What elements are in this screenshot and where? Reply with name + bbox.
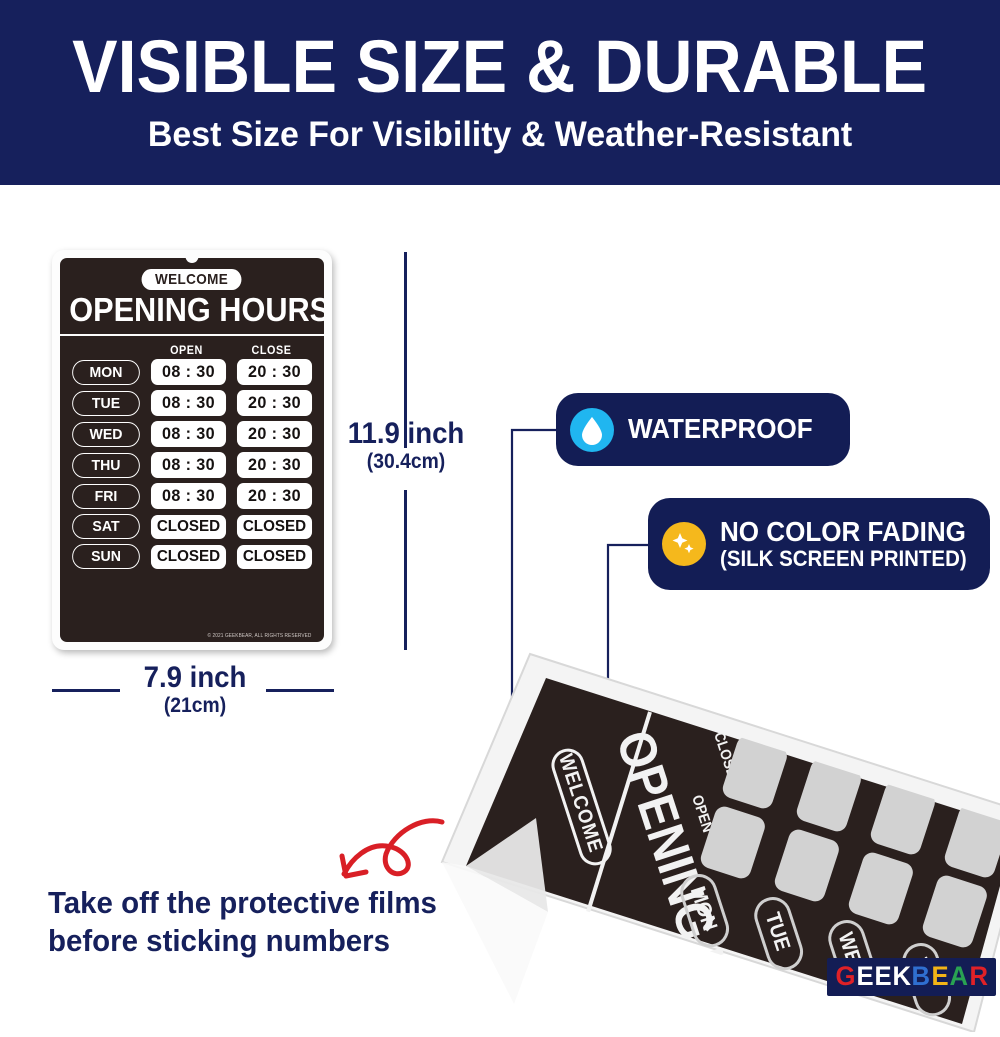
- brand-logo: GEEKBEAR: [827, 958, 996, 996]
- day-label: WED: [72, 422, 140, 447]
- connector-line-nofade: [608, 545, 648, 688]
- banner-subtitle: Best Size For Visibility & Weather-Resis…: [148, 116, 852, 155]
- open-value: 08 : 30: [151, 452, 226, 478]
- caption-line-2: before sticking numbers: [48, 922, 466, 960]
- open-value: 08 : 30: [151, 483, 226, 509]
- svg-text:TUE: TUE: [760, 910, 794, 954]
- close-value: 20 : 30: [237, 483, 312, 509]
- open-value: 08 : 30: [151, 390, 226, 416]
- height-cm-value: (30.4cm): [342, 450, 471, 473]
- sign-frame: WELCOME OPENING HOURS OPEN CLOSE MON 08 …: [52, 250, 332, 650]
- copyright-notice: © 2021 GEEKBEAR, ALL RIGHTS RESERVED: [208, 633, 312, 639]
- svg-text:MON: MON: [685, 884, 721, 934]
- close-value: CLOSED: [237, 545, 312, 569]
- caption-line-1: Take off the protective films: [48, 884, 466, 922]
- svg-text:OPENING HOURS: OPENING HOURS: [605, 724, 783, 1032]
- feature-badge-text: NO COLOR FADING (SILK SCREEN PRINTED): [720, 518, 967, 570]
- column-headers: OPEN CLOSE: [60, 336, 324, 359]
- brand-letter-1: E: [856, 963, 873, 990]
- tilted-column-header-close: CLOSE: [710, 730, 740, 779]
- sign-header: WELCOME OPENING HOURS: [60, 258, 324, 336]
- height-guide-line-bottom: [404, 490, 407, 650]
- tilted-sign-title: OPENING HOURS: [605, 724, 783, 1032]
- width-cm-value: (21cm): [117, 694, 273, 717]
- open-value: CLOSED: [151, 545, 226, 569]
- water-drop-icon: [570, 408, 614, 452]
- tilted-day-label: MON: [677, 871, 732, 950]
- close-value: 20 : 30: [237, 421, 312, 447]
- connector-dot-waterproof: [507, 803, 517, 813]
- table-row: FRI 08 : 30 20 : 30: [70, 483, 314, 509]
- brand-letter-2: E: [874, 963, 891, 990]
- feature-label-line2: (SILK SCREEN PRINTED): [720, 548, 967, 570]
- svg-text:CLOSE: CLOSE: [710, 730, 740, 779]
- tilted-sign-divider: [588, 712, 650, 912]
- brand-letter-5: E: [931, 963, 948, 990]
- tilted-day-pills: MON TUE WED THU: [677, 871, 954, 1019]
- day-label: SUN: [72, 544, 140, 569]
- brand-letter-3: K: [892, 963, 911, 990]
- feature-label-line1: NO COLOR FADING: [720, 518, 967, 547]
- table-row: SAT CLOSED CLOSED: [70, 514, 314, 539]
- open-value: CLOSED: [151, 515, 226, 539]
- feature-badge-no-color-fading[interactable]: NO COLOR FADING (SILK SCREEN PRINTED): [648, 498, 990, 590]
- close-value: 20 : 30: [237, 452, 312, 478]
- banner-title: VISIBLE SIZE & DURABLE: [73, 31, 928, 104]
- svg-text:WELCOME: WELCOME: [554, 751, 606, 855]
- close-value: 20 : 30: [237, 390, 312, 416]
- feature-badge-waterproof[interactable]: WATERPROOF: [556, 393, 850, 466]
- table-row: SUN CLOSED CLOSED: [70, 544, 314, 569]
- table-row: TUE 08 : 30 20 : 30: [70, 390, 314, 416]
- width-dimension-label: 7.9 inch (21cm): [110, 662, 280, 717]
- day-label: SAT: [72, 514, 140, 539]
- instruction-caption: Take off the protective films before sti…: [48, 884, 466, 960]
- peeling-film-corner: [466, 818, 548, 912]
- table-row: THU 08 : 30 20 : 30: [70, 452, 314, 478]
- height-inch-value: 11.9 inch: [342, 418, 471, 450]
- connector-line-waterproof: [512, 430, 556, 808]
- infographic-canvas: VISIBLE SIZE & DURABLE Best Size For Vis…: [0, 0, 1000, 1000]
- feature-badge-text: WATERPROOF: [628, 415, 813, 444]
- close-value: 20 : 30: [237, 359, 312, 385]
- welcome-badge: WELCOME: [142, 269, 242, 290]
- width-inch-value: 7.9 inch: [117, 662, 273, 694]
- table-row: MON 08 : 30 20 : 30: [70, 359, 314, 385]
- sign-face: WELCOME OPENING HOURS OPEN CLOSE MON 08 …: [60, 258, 324, 642]
- header-banner: VISIBLE SIZE & DURABLE Best Size For Vis…: [0, 0, 1000, 185]
- brand-letter-7: R: [969, 963, 988, 990]
- open-value: 08 : 30: [151, 421, 226, 447]
- tilted-day-label: TUE: [751, 894, 806, 973]
- product-sign-front: WELCOME OPENING HOURS OPEN CLOSE MON 08 …: [52, 250, 332, 650]
- day-label: FRI: [72, 484, 140, 509]
- close-value: CLOSED: [237, 515, 312, 539]
- connector-dot-nofade: [603, 683, 613, 693]
- brand-letter-4: B: [912, 963, 931, 990]
- svg-text:OPEN: OPEN: [688, 793, 716, 835]
- tilted-column-header-open: OPEN: [688, 793, 716, 835]
- height-dimension-label: 11.9 inch (30.4cm): [336, 418, 476, 473]
- hours-table: MON 08 : 30 20 : 30 TUE 08 : 30 20 : 30 …: [60, 359, 324, 569]
- column-header-close: CLOSE: [233, 343, 310, 357]
- day-label: THU: [72, 453, 140, 478]
- column-header-open: OPEN: [148, 343, 225, 357]
- tilted-welcome-badge: WELCOME: [549, 746, 614, 867]
- feature-label-line1: WATERPROOF: [628, 415, 813, 444]
- tilted-empty-slots-close: [720, 734, 1000, 880]
- tilted-empty-slots-open: [698, 804, 989, 950]
- open-value: 08 : 30: [151, 359, 226, 385]
- brand-letter-0: G: [835, 963, 855, 990]
- sparkle-icon: [662, 522, 706, 566]
- sign-title: OPENING HOURS: [69, 293, 315, 327]
- table-row: WED 08 : 30 20 : 30: [70, 421, 314, 447]
- brand-letter-6: A: [949, 963, 968, 990]
- day-label: MON: [72, 360, 140, 385]
- day-label: TUE: [72, 391, 140, 416]
